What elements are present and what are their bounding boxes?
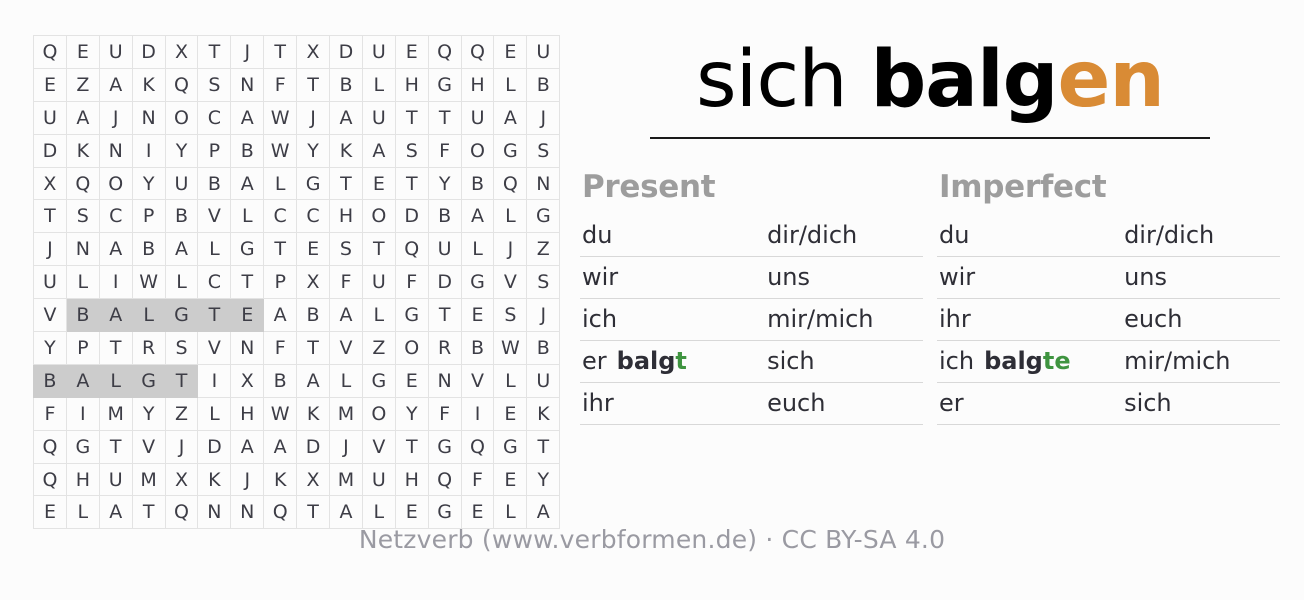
word-search-cell[interactable]: Z — [165, 397, 198, 430]
word-search-cell[interactable]: Y — [527, 463, 560, 496]
word-search-cell[interactable]: S — [395, 134, 428, 167]
word-search-cell[interactable]: B — [231, 134, 264, 167]
word-search-cell[interactable]: L — [66, 496, 99, 529]
word-search-cell[interactable]: W — [264, 101, 297, 134]
word-search-cell[interactable]: Q — [165, 68, 198, 101]
word-search-cell[interactable]: N — [99, 134, 132, 167]
word-search-cell[interactable]: K — [527, 397, 560, 430]
conjugation-form-cell: du — [580, 215, 765, 257]
pronoun-label: er — [939, 389, 964, 417]
word-search-body: QEUDXTJTXDUEQQEUEZAKQSNFTBLHGHLBUAJNOCAW… — [34, 36, 560, 529]
word-search-cell[interactable]: U — [362, 101, 395, 134]
word-search-cell[interactable]: J — [34, 233, 67, 266]
word-search-cell[interactable]: L — [494, 68, 527, 101]
word-search-cell[interactable]: V — [494, 266, 527, 299]
tense-heading-present: Present — [582, 169, 923, 205]
word-search-cell[interactable]: E — [395, 36, 428, 69]
word-search-cell[interactable]: L — [494, 200, 527, 233]
conjugation-row: wiruns — [937, 257, 1280, 299]
conjugation-form-cell: ichbalgte — [937, 341, 1122, 383]
word-search-cell[interactable]: Y — [132, 167, 165, 200]
conjugation-row: dudir/dich — [937, 215, 1280, 257]
word-search-cell[interactable]: T — [395, 101, 428, 134]
word-search-cell[interactable]: H — [461, 68, 494, 101]
conjugation-form-cell: du — [937, 215, 1122, 257]
word-search-cell[interactable]: E — [297, 233, 330, 266]
word-search-cell[interactable]: A — [165, 233, 198, 266]
word-search-cell[interactable]: B — [428, 200, 461, 233]
word-search-cell[interactable]: H — [231, 397, 264, 430]
word-search-cell[interactable]: V — [34, 299, 67, 332]
word-search-cell[interactable]: P — [264, 266, 297, 299]
word-search-cell[interactable]: T — [99, 332, 132, 365]
word-search-cell[interactable]: X — [297, 463, 330, 496]
word-search-cell[interactable]: J — [527, 101, 560, 134]
word-search-cell[interactable]: U — [527, 364, 560, 397]
word-search-cell[interactable]: B — [297, 299, 330, 332]
word-search-cell[interactable]: Y — [395, 397, 428, 430]
word-search-row: TSCPBVLCCHODBALG — [34, 200, 560, 233]
word-search-cell[interactable]: Q — [34, 463, 67, 496]
word-search-row: UAJNOCAWJAUTTUAJ — [34, 101, 560, 134]
word-search-cell[interactable]: U — [99, 463, 132, 496]
word-search-cell[interactable]: B — [461, 332, 494, 365]
word-search-cell[interactable]: Y — [34, 332, 67, 365]
word-search-cell[interactable]: E — [494, 463, 527, 496]
word-search-cell[interactable]: W — [264, 397, 297, 430]
word-search-cell[interactable]: V — [132, 430, 165, 463]
conjugation-form-cell: er — [937, 383, 1122, 425]
word-search-cell[interactable]: E — [395, 364, 428, 397]
word-search-row: YPTRSVNFTVZORBWB — [34, 332, 560, 365]
word-search-cell[interactable]: K — [297, 397, 330, 430]
word-search-cell[interactable]: A — [330, 101, 363, 134]
word-search-row: QEUDXTJTXDUEQQEU — [34, 36, 560, 69]
word-search-cell[interactable]: T — [297, 68, 330, 101]
word-search-cell[interactable]: A — [66, 101, 99, 134]
word-search-cell[interactable]: A — [99, 233, 132, 266]
word-search-cell[interactable]: Q — [34, 36, 67, 69]
word-search-cell[interactable]: S — [527, 266, 560, 299]
word-search-cell[interactable]: S — [198, 68, 231, 101]
word-search-cell[interactable]: L — [461, 233, 494, 266]
word-search-cell[interactable]: G — [362, 364, 395, 397]
word-search-cell[interactable]: C — [198, 101, 231, 134]
verb-form: balgte — [984, 347, 1071, 375]
word-search-cell[interactable]: C — [198, 266, 231, 299]
word-search-cell[interactable]: L — [494, 496, 527, 529]
word-search-cell[interactable]: X — [297, 36, 330, 69]
word-search-cell[interactable]: B — [461, 167, 494, 200]
word-search-cell[interactable]: V — [362, 430, 395, 463]
word-search-cell[interactable]: U — [428, 233, 461, 266]
word-search-cell[interactable]: E — [461, 496, 494, 529]
word-search-cell[interactable]: D — [395, 200, 428, 233]
word-search-cell[interactable]: U — [461, 101, 494, 134]
word-search-cell[interactable]: G — [461, 266, 494, 299]
word-search-cell[interactable]: T — [330, 167, 363, 200]
word-search-cell[interactable]: L — [362, 496, 395, 529]
word-search-cell[interactable]: E — [34, 68, 67, 101]
word-search-cell[interactable]: J — [231, 463, 264, 496]
word-search-cell[interactable]: K — [66, 134, 99, 167]
word-search-cell[interactable]: I — [66, 397, 99, 430]
word-search-cell[interactable]: G — [428, 430, 461, 463]
word-search-cell[interactable]: G — [132, 364, 165, 397]
word-search-cell[interactable]: O — [362, 397, 395, 430]
word-search-cell[interactable]: W — [264, 134, 297, 167]
word-search-cell[interactable]: C — [264, 200, 297, 233]
word-search-cell[interactable]: T — [297, 332, 330, 365]
word-search-cell[interactable]: Z — [527, 233, 560, 266]
word-search-cell[interactable]: C — [297, 200, 330, 233]
title-divider — [650, 137, 1210, 139]
word-search-cell[interactable]: L — [362, 299, 395, 332]
word-search-cell[interactable]: T — [527, 430, 560, 463]
word-search-cell[interactable]: J — [330, 430, 363, 463]
reflexive-pronoun-cell: dir/dich — [1122, 215, 1280, 257]
word-search-cell[interactable]: R — [132, 332, 165, 365]
conjugation-body-present: dudir/dichwirunsichmir/micherbalgtsichih… — [580, 215, 923, 425]
word-search-cell[interactable]: F — [264, 68, 297, 101]
word-search-cell[interactable]: P — [66, 332, 99, 365]
word-search-cell[interactable]: O — [165, 101, 198, 134]
word-search-cell[interactable]: G — [231, 233, 264, 266]
word-search-cell[interactable]: L — [132, 299, 165, 332]
word-search-cell[interactable]: G — [66, 430, 99, 463]
word-search-cell[interactable]: N — [231, 332, 264, 365]
title-reflexive: sich — [696, 35, 870, 125]
conjugation-row: ihreuch — [937, 299, 1280, 341]
word-search-cell[interactable]: A — [527, 496, 560, 529]
word-search-cell[interactable]: O — [395, 332, 428, 365]
word-search-cell[interactable]: A — [494, 101, 527, 134]
word-search-cell[interactable]: J — [165, 430, 198, 463]
word-search-cell[interactable]: Y — [132, 397, 165, 430]
conjugation-row: dudir/dich — [580, 215, 923, 257]
word-search-cell[interactable]: H — [395, 68, 428, 101]
word-search-cell[interactable]: G — [494, 134, 527, 167]
word-search-cell[interactable]: G — [297, 167, 330, 200]
verb-form-ending: t — [675, 347, 686, 375]
word-search-cell[interactable]: T — [198, 299, 231, 332]
word-search-grid[interactable]: QEUDXTJTXDUEQQEUEZAKQSNFTBLHGHLBUAJNOCAW… — [33, 35, 560, 529]
title-ending: en — [1058, 35, 1164, 125]
word-search-cell[interactable]: D — [198, 430, 231, 463]
word-search-cell[interactable]: L — [66, 266, 99, 299]
word-search-row: JNABALGTESTQULJZ — [34, 233, 560, 266]
word-search-cell[interactable]: W — [494, 332, 527, 365]
word-search-cell[interactable]: U — [34, 266, 67, 299]
conjugation-form-cell: ihr — [580, 383, 765, 425]
word-search-cell[interactable]: X — [34, 167, 67, 200]
word-search-cell[interactable]: X — [165, 36, 198, 69]
word-search-cell[interactable]: L — [264, 167, 297, 200]
word-search-cell[interactable]: I — [461, 397, 494, 430]
word-search-cell[interactable]: F — [330, 266, 363, 299]
conjugation-form-cell: ich — [580, 299, 765, 341]
word-search-cell[interactable]: A — [264, 430, 297, 463]
word-search-cell[interactable]: H — [330, 200, 363, 233]
word-search-cell[interactable]: B — [527, 68, 560, 101]
word-search-cell[interactable]: T — [362, 233, 395, 266]
word-search-cell[interactable]: U — [362, 463, 395, 496]
pronoun-label: ich — [939, 347, 974, 375]
word-search-cell[interactable]: Q — [461, 430, 494, 463]
word-search-cell[interactable]: S — [165, 332, 198, 365]
word-search-cell[interactable]: B — [132, 233, 165, 266]
word-search-cell[interactable]: M — [99, 397, 132, 430]
word-search-cell[interactable]: Q — [165, 496, 198, 529]
word-search-cell[interactable]: L — [231, 200, 264, 233]
word-search-cell[interactable]: N — [66, 233, 99, 266]
conjugation-row: ihreuch — [580, 383, 923, 425]
word-search-cell[interactable]: O — [362, 200, 395, 233]
word-search-cell[interactable]: B — [198, 167, 231, 200]
word-search-cell[interactable]: F — [34, 397, 67, 430]
word-search-cell[interactable]: T — [165, 364, 198, 397]
word-search-cell[interactable]: L — [99, 364, 132, 397]
word-search-cell[interactable]: S — [66, 200, 99, 233]
word-search-cell[interactable]: A — [330, 496, 363, 529]
word-search-cell[interactable]: B — [165, 200, 198, 233]
word-search-row: FIMYZLHWKMOYFIEK — [34, 397, 560, 430]
tense-block-imperfect: Imperfect dudir/dichwirunsihreuchichbalg… — [937, 169, 1280, 425]
word-search-cell[interactable]: J — [99, 101, 132, 134]
word-search-cell[interactable]: D — [34, 134, 67, 167]
word-search-cell[interactable]: A — [231, 430, 264, 463]
word-search-cell[interactable]: T — [428, 101, 461, 134]
word-search-cell[interactable]: T — [132, 496, 165, 529]
word-search-cell[interactable]: J — [297, 101, 330, 134]
word-search-row: QHUMXKJKXMUHQFEY — [34, 463, 560, 496]
word-search-cell[interactable]: E — [34, 496, 67, 529]
word-search-cell[interactable]: V — [461, 364, 494, 397]
word-search-cell[interactable]: B — [34, 364, 67, 397]
word-search-cell[interactable]: N — [428, 364, 461, 397]
verb-panel: sich balgen Present dudir/dichwirunsichm… — [580, 35, 1280, 425]
word-search-cell[interactable]: Q — [494, 167, 527, 200]
word-search-cell[interactable]: U — [527, 36, 560, 69]
reflexive-pronoun-cell: dir/dich — [765, 215, 923, 257]
word-search-cell[interactable]: L — [198, 233, 231, 266]
word-search-cell[interactable]: J — [231, 36, 264, 69]
word-search-cell[interactable]: S — [527, 134, 560, 167]
word-search-cell[interactable]: I — [99, 266, 132, 299]
conjugation-row: ichbalgtemir/mich — [937, 341, 1280, 383]
word-search-row: ULIWLCTPXFUFDGVS — [34, 266, 560, 299]
reflexive-pronoun-cell: uns — [1122, 257, 1280, 299]
word-search-cell[interactable]: L — [494, 364, 527, 397]
word-search-cell[interactable]: E — [66, 36, 99, 69]
word-search-cell[interactable]: N — [527, 167, 560, 200]
word-search-cell[interactable]: G — [395, 299, 428, 332]
word-search-cell[interactable]: E — [362, 167, 395, 200]
word-search-cell[interactable]: L — [362, 68, 395, 101]
word-search-cell[interactable]: E — [231, 299, 264, 332]
conjugation-form-cell: erbalgt — [580, 341, 765, 383]
word-search-cell[interactable]: F — [428, 397, 461, 430]
word-search-cell[interactable]: B — [330, 68, 363, 101]
word-search-cell[interactable]: Q — [428, 463, 461, 496]
word-search-cell[interactable]: T — [297, 496, 330, 529]
conjugation-body-imperfect: dudir/dichwirunsihreuchichbalgtemir/mich… — [937, 215, 1280, 425]
word-search-cell[interactable]: E — [461, 299, 494, 332]
word-search-cell[interactable]: I — [132, 134, 165, 167]
word-search-cell[interactable]: A — [264, 299, 297, 332]
word-search-cell[interactable]: D — [132, 36, 165, 69]
word-search-cell[interactable]: K — [132, 68, 165, 101]
word-search-cell[interactable]: U — [99, 36, 132, 69]
word-search-cell[interactable]: G — [494, 430, 527, 463]
conjugation-row: ichmir/mich — [580, 299, 923, 341]
reflexive-pronoun-cell: euch — [765, 383, 923, 425]
word-search-cell[interactable]: E — [395, 496, 428, 529]
word-search-cell[interactable]: E — [494, 36, 527, 69]
word-search-cell[interactable]: X — [165, 463, 198, 496]
word-search-cell[interactable]: C — [99, 200, 132, 233]
word-search-cell[interactable]: K — [198, 463, 231, 496]
pronoun-label: wir — [582, 263, 618, 291]
word-search-cell[interactable]: A — [99, 68, 132, 101]
word-search-cell[interactable]: L — [165, 266, 198, 299]
word-search-cell[interactable]: D — [297, 430, 330, 463]
word-search-cell[interactable]: A — [330, 299, 363, 332]
word-search-cell[interactable]: F — [428, 134, 461, 167]
verb-form-ending: te — [1043, 347, 1071, 375]
conjugation-table-imperfect: dudir/dichwirunsihreuchichbalgtemir/mich… — [937, 215, 1280, 425]
word-search-cell[interactable]: G — [428, 496, 461, 529]
word-search-cell[interactable]: W — [132, 266, 165, 299]
word-search-cell[interactable]: K — [264, 463, 297, 496]
pronoun-label: ich — [582, 305, 617, 333]
reflexive-pronoun-cell: mir/mich — [1122, 341, 1280, 383]
word-search-cell[interactable]: A — [297, 364, 330, 397]
word-search-cell[interactable]: U — [362, 36, 395, 69]
conjugation-form-cell: ihr — [937, 299, 1122, 341]
reflexive-pronoun-cell: euch — [1122, 299, 1280, 341]
word-search-cell[interactable]: Q — [395, 233, 428, 266]
word-search-cell[interactable]: D — [330, 36, 363, 69]
word-search-cell[interactable]: Q — [34, 430, 67, 463]
word-search-cell[interactable]: Q — [428, 36, 461, 69]
word-search-cell[interactable]: B — [527, 332, 560, 365]
word-search-cell[interactable]: U — [362, 266, 395, 299]
word-search-cell[interactable]: P — [132, 200, 165, 233]
word-search-cell[interactable]: T — [264, 233, 297, 266]
word-search-cell[interactable]: V — [198, 200, 231, 233]
word-search-cell[interactable]: V — [330, 332, 363, 365]
word-search-cell[interactable]: Y — [165, 134, 198, 167]
word-search-cell[interactable]: S — [494, 299, 527, 332]
word-search-cell[interactable]: A — [66, 364, 99, 397]
word-search-cell[interactable]: T — [395, 167, 428, 200]
word-search-cell[interactable]: I — [198, 364, 231, 397]
pronoun-label: du — [582, 221, 612, 249]
word-search-cell[interactable]: Y — [297, 134, 330, 167]
word-search-cell[interactable]: D — [428, 266, 461, 299]
word-search-cell[interactable]: A — [231, 101, 264, 134]
word-search-cell[interactable]: S — [330, 233, 363, 266]
word-search-cell[interactable]: A — [362, 134, 395, 167]
word-search-cell[interactable]: T — [428, 299, 461, 332]
word-search-cell[interactable]: U — [34, 101, 67, 134]
word-search-cell[interactable]: R — [428, 332, 461, 365]
word-search-cell[interactable]: M — [330, 463, 363, 496]
word-search-cell[interactable]: V — [198, 332, 231, 365]
word-search-cell[interactable]: O — [461, 134, 494, 167]
word-search-cell[interactable]: E — [494, 397, 527, 430]
word-search-cell[interactable]: F — [461, 463, 494, 496]
word-search-cell[interactable]: P — [198, 134, 231, 167]
word-search-cell[interactable]: O — [99, 167, 132, 200]
word-search-cell[interactable]: Q — [461, 36, 494, 69]
word-search-cell[interactable]: Y — [428, 167, 461, 200]
word-search-cell[interactable]: A — [461, 200, 494, 233]
word-search-cell[interactable]: Q — [264, 496, 297, 529]
word-search-cell[interactable]: H — [395, 463, 428, 496]
verb-form: balgt — [617, 347, 687, 375]
reflexive-pronoun-cell: sich — [765, 341, 923, 383]
word-search-cell[interactable]: Q — [66, 167, 99, 200]
word-search-cell[interactable]: T — [99, 430, 132, 463]
word-search-cell[interactable]: T — [198, 36, 231, 69]
word-search-cell[interactable]: X — [297, 266, 330, 299]
word-search-cell[interactable]: G — [527, 200, 560, 233]
word-search-cell[interactable]: T — [395, 430, 428, 463]
word-search-cell[interactable]: M — [330, 397, 363, 430]
word-search-cell[interactable]: L — [198, 397, 231, 430]
word-search-cell[interactable]: N — [231, 496, 264, 529]
pronoun-label: wir — [939, 263, 975, 291]
word-search-cell[interactable]: T — [34, 200, 67, 233]
word-search-cell[interactable]: N — [132, 101, 165, 134]
word-search-cell[interactable]: F — [264, 332, 297, 365]
word-search-cell[interactable]: Z — [362, 332, 395, 365]
word-search-cell[interactable]: F — [395, 266, 428, 299]
word-search-cell[interactable]: T — [231, 266, 264, 299]
word-search-cell[interactable]: X — [231, 364, 264, 397]
word-search-cell[interactable]: N — [198, 496, 231, 529]
word-search-cell[interactable]: N — [231, 68, 264, 101]
footer-credit: Netzverb (www.verbformen.de) · CC BY-SA … — [0, 525, 1304, 554]
word-search-cell[interactable]: K — [330, 134, 363, 167]
word-search-cell[interactable]: H — [66, 463, 99, 496]
word-search-row: XQOYUBALGTETYBQN — [34, 167, 560, 200]
word-search-cell[interactable]: B — [66, 299, 99, 332]
word-search-cell[interactable]: J — [494, 233, 527, 266]
word-search-cell[interactable]: Z — [66, 68, 99, 101]
verb-form-stem: balg — [617, 347, 676, 375]
pronoun-label: er — [582, 347, 607, 375]
conjugation-table-present: dudir/dichwirunsichmir/micherbalgtsichih… — [580, 215, 923, 425]
word-search-cell[interactable]: B — [264, 364, 297, 397]
word-search-cell[interactable]: G — [165, 299, 198, 332]
reflexive-pronoun-cell: mir/mich — [765, 299, 923, 341]
word-search-row: EZAKQSNFTBLHGHLB — [34, 68, 560, 101]
word-search-cell[interactable]: L — [330, 364, 363, 397]
word-search-cell[interactable]: U — [165, 167, 198, 200]
conjugation-row: ersich — [937, 383, 1280, 425]
word-search-cell[interactable]: A — [231, 167, 264, 200]
word-search-cell[interactable]: A — [99, 299, 132, 332]
word-search-cell[interactable]: M — [132, 463, 165, 496]
word-search-cell[interactable]: T — [264, 36, 297, 69]
word-search-cell[interactable]: J — [527, 299, 560, 332]
word-search-cell[interactable]: A — [99, 496, 132, 529]
page-title: sich balgen — [580, 35, 1280, 125]
word-search-cell[interactable]: G — [428, 68, 461, 101]
